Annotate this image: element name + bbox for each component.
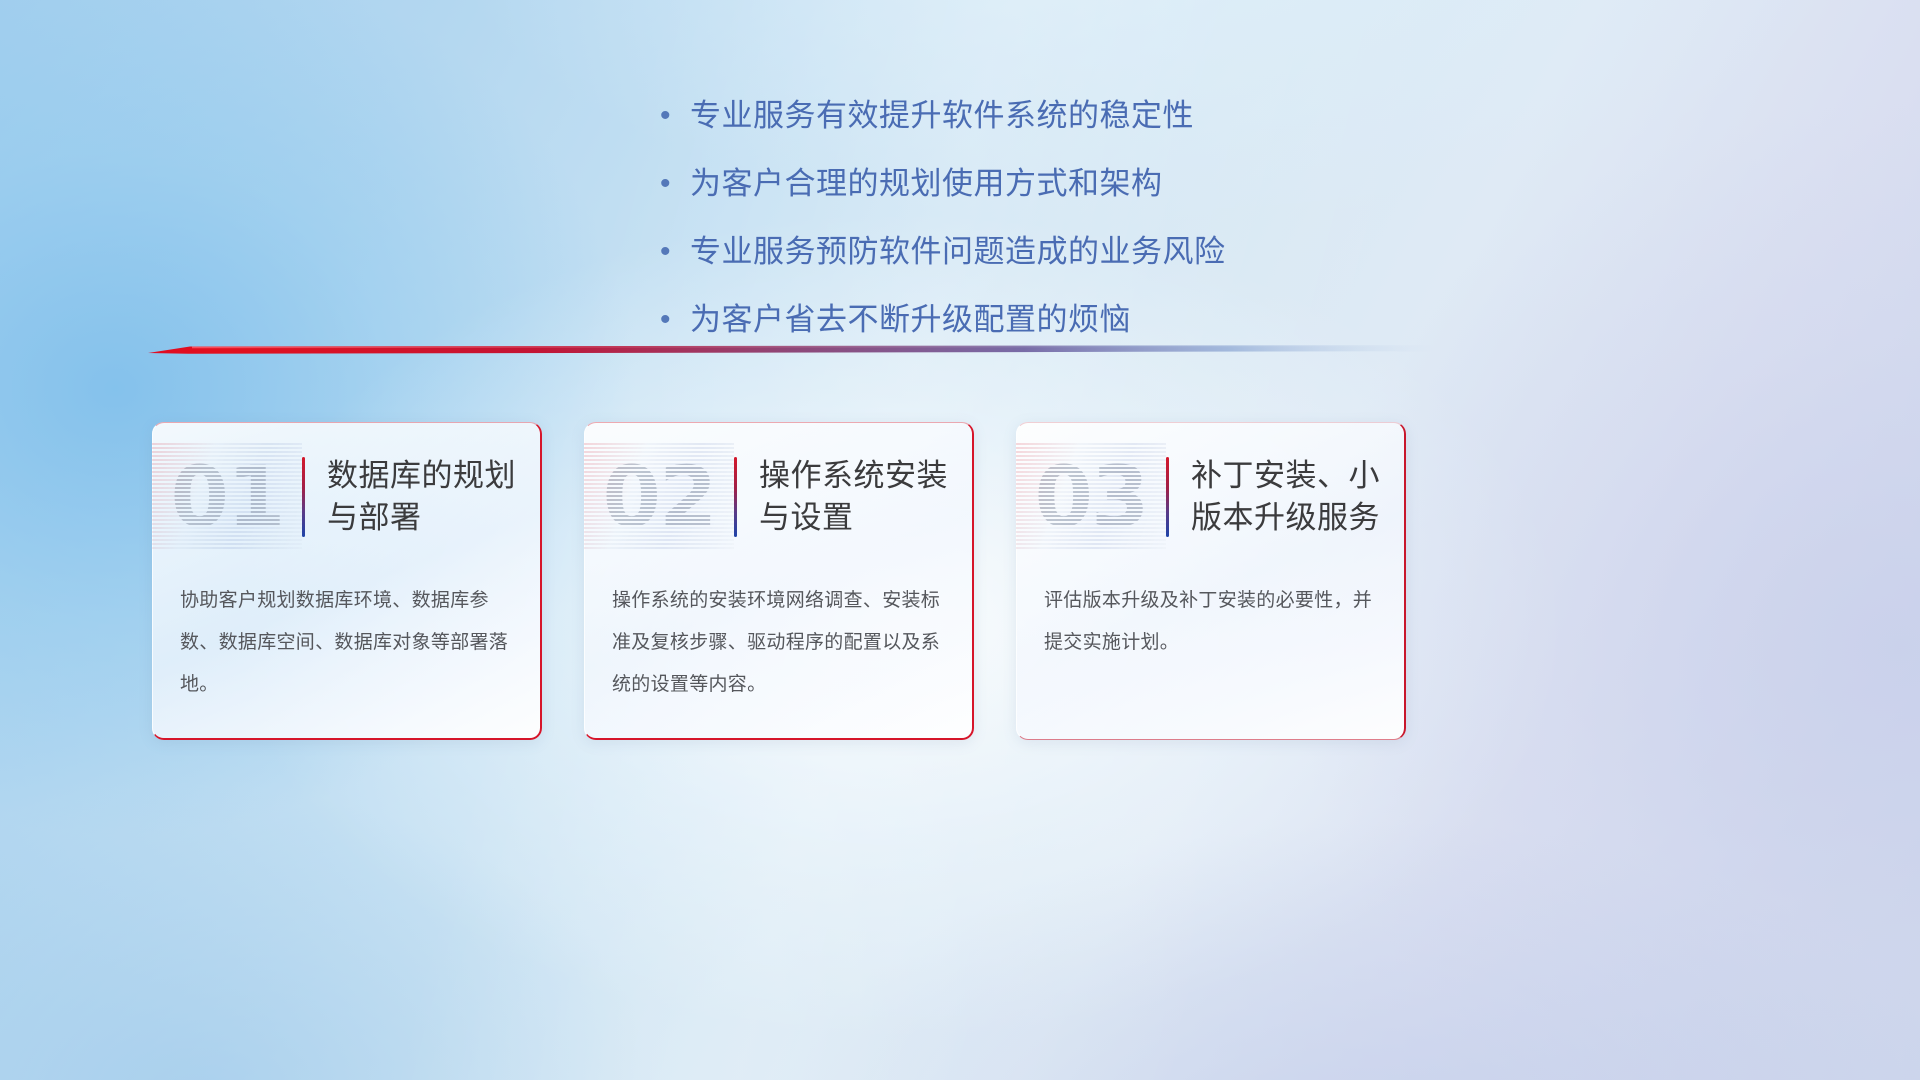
bullet-label: 为客户合理的规划使用方式和架构 — [690, 164, 1163, 204]
card-description: 协助客户规划数据库环境、数据库参数、数据库空间、数据库对象等部署落地。 — [180, 580, 518, 706]
service-card[interactable]: 02 操作系统安装与设置 操作系统的安装环境网络调查、安装标准及复核步骤、驱动程… — [584, 422, 974, 740]
service-cards-row: 01 数据库的规划与部署 协助客户规划数据库环境、数据库参数、数据库空间、数据库… — [152, 422, 1750, 740]
bullet-item: • 专业服务有效提升软件系统的稳定性 — [660, 96, 1380, 136]
bullet-dot-icon: • — [660, 232, 690, 272]
service-card[interactable]: 03 补丁安装、小版本升级服务 评估版本升级及补丁安装的必要性，并提交实施计划。 — [1016, 422, 1406, 740]
slide-canvas: • 专业服务有效提升软件系统的稳定性 • 为客户合理的规划使用方式和架构 • 专… — [0, 0, 1920, 1080]
bullet-dot-icon: • — [660, 300, 690, 340]
bullet-dot-icon: • — [660, 164, 690, 204]
card-title: 补丁安装、小版本升级服务 — [1169, 455, 1406, 539]
card-title: 操作系统安装与设置 — [737, 455, 974, 539]
bullet-label: 为客户省去不断升级配置的烦恼 — [690, 300, 1131, 340]
card-number-striped: 02 — [584, 443, 734, 551]
card-number-striped: 01 — [152, 443, 302, 551]
bullet-label: 专业服务有效提升软件系统的稳定性 — [690, 96, 1194, 136]
card-title: 数据库的规划与部署 — [305, 455, 542, 539]
bullet-item: • 为客户省去不断升级配置的烦恼 — [660, 300, 1380, 340]
card-description: 评估版本升级及补丁安装的必要性，并提交实施计划。 — [1044, 580, 1382, 664]
bullet-label: 专业服务预防软件问题造成的业务风险 — [690, 232, 1226, 272]
service-card[interactable]: 01 数据库的规划与部署 协助客户规划数据库环境、数据库参数、数据库空间、数据库… — [152, 422, 542, 740]
card-header: 01 数据库的规划与部署 — [152, 438, 542, 556]
card-description: 操作系统的安装环境网络调查、安装标准及复核步骤、驱动程序的配置以及系统的设置等内… — [612, 580, 950, 706]
bullet-item: • 为客户合理的规划使用方式和架构 — [660, 164, 1380, 204]
card-header: 03 补丁安装、小版本升级服务 — [1016, 438, 1406, 556]
card-header: 02 操作系统安装与设置 — [584, 438, 974, 556]
tapered-accent-line — [148, 342, 1436, 358]
bullet-item: • 专业服务预防软件问题造成的业务风险 — [660, 232, 1380, 272]
card-number-striped: 03 — [1016, 443, 1166, 551]
bullet-dot-icon: • — [660, 96, 690, 136]
benefits-bullet-list: • 专业服务有效提升软件系统的稳定性 • 为客户合理的规划使用方式和架构 • 专… — [660, 96, 1380, 368]
